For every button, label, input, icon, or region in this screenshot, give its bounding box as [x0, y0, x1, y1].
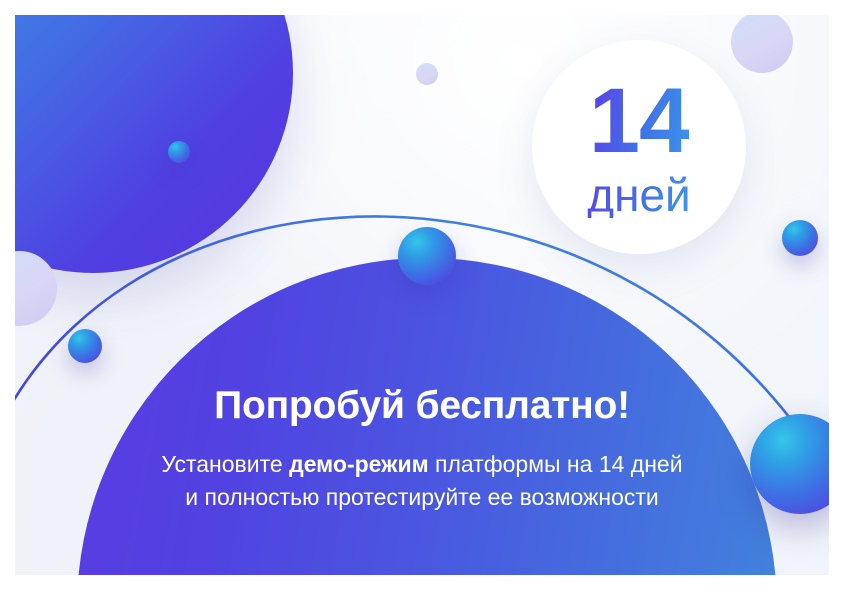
- subcopy-line2: и полностью протестируйте ее возможности: [185, 484, 659, 510]
- pale-circle-top-mid-decoration: [416, 63, 438, 85]
- badge-number: 14: [589, 78, 689, 165]
- banner-canvas: 14 дней Попробуй бесплатно! Установите д…: [15, 15, 829, 575]
- subcopy-line1-strong: демо-режим: [289, 451, 429, 477]
- promo-banner: 14 дней Попробуй бесплатно! Установите д…: [0, 0, 860, 600]
- subcopy: Установите демо-режим платформы на 14 дн…: [15, 448, 829, 513]
- subcopy-line1-after: платформы на 14 дней: [429, 451, 683, 477]
- sphere-on-dome-icon: [398, 227, 456, 285]
- copy-block: Попробуй бесплатно! Установите демо-режи…: [15, 385, 829, 513]
- subcopy-line1-before: Установите: [161, 451, 289, 477]
- sphere-left-on-arc-icon: [68, 329, 102, 363]
- headline: Попробуй бесплатно!: [15, 385, 829, 428]
- sphere-tiny-top-left-icon: [168, 141, 190, 163]
- days-badge: 14 дней: [532, 40, 746, 254]
- sphere-right-small-icon: [782, 220, 818, 256]
- badge-unit-label: дней: [587, 172, 691, 218]
